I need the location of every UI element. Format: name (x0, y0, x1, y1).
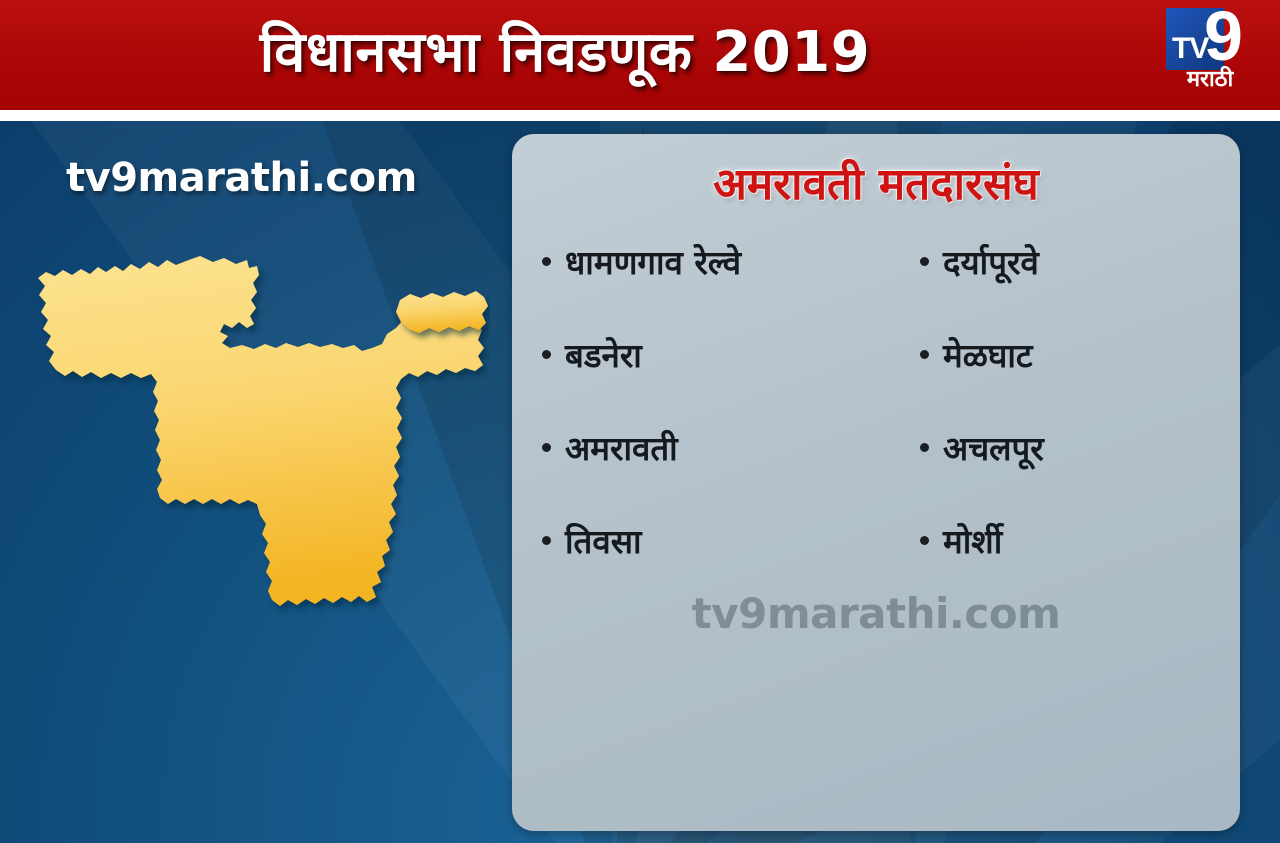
constituency-name: दर्यापूरवे (943, 242, 1039, 284)
constituency-name: धामणगाव रेल्वे (565, 242, 741, 284)
tv9-marathi-logo: TV 9 मराठी (1158, 6, 1262, 106)
bullet-icon (920, 350, 929, 359)
list-item[interactable]: अचलपूर (920, 428, 1240, 521)
bullet-icon (920, 257, 929, 266)
constituency-panel: अमरावती मतदारसंघ tv9marathi.com धामणगाव … (512, 134, 1240, 831)
constituency-name: मोर्शी (943, 521, 1002, 563)
amravati-district-map (10, 248, 490, 648)
list-item[interactable]: तिवसा (542, 521, 876, 614)
map-svg (10, 248, 490, 648)
list-item[interactable]: मोर्शी (920, 521, 1240, 614)
header-banner: विधानसभा निवडणूक 2019 TV 9 मराठी (0, 0, 1280, 110)
page-title: विधानसभा निवडणूक 2019 (0, 0, 1130, 110)
list-item[interactable]: अमरावती (542, 428, 876, 521)
list-item[interactable]: धामणगाव रेल्वे (542, 242, 876, 335)
bullet-icon (542, 257, 551, 266)
logo-tv-text: TV (1172, 34, 1208, 64)
constituency-name: बडनेरा (565, 335, 642, 377)
constituency-name: अमरावती (565, 428, 678, 470)
list-item[interactable]: दर्यापूरवे (920, 242, 1240, 335)
logo-mark: TV 9 (1158, 6, 1262, 72)
bullet-icon (542, 443, 551, 452)
infographic-root: विधानसभा निवडणूक 2019 TV 9 मराठी tv9mara… (0, 0, 1280, 843)
constituency-name: अचलपूर (943, 428, 1044, 470)
logo-marathi-text: मराठी (1158, 68, 1262, 92)
bullet-icon (920, 536, 929, 545)
constituency-column-right: दर्यापूरवे मेळघाट अचलपूर मोर्शी (876, 242, 1240, 614)
constituency-name: मेळघाट (943, 335, 1033, 377)
bullet-icon (542, 536, 551, 545)
bullet-icon (920, 443, 929, 452)
list-item[interactable]: मेळघाट (920, 335, 1240, 428)
banner-separator (0, 110, 1280, 121)
bullet-icon (542, 350, 551, 359)
panel-heading: अमरावती मतदारसंघ (512, 158, 1240, 212)
site-watermark: tv9marathi.com (66, 155, 417, 201)
constituency-column-left: धामणगाव रेल्वे बडनेरा अमरावती तिवसा (512, 242, 876, 614)
constituency-columns: धामणगाव रेल्वे बडनेरा अमरावती तिवसा (512, 242, 1240, 614)
constituency-name: तिवसा (565, 521, 642, 563)
logo-nine-text: 9 (1204, 1, 1243, 71)
list-item[interactable]: बडनेरा (542, 335, 876, 428)
